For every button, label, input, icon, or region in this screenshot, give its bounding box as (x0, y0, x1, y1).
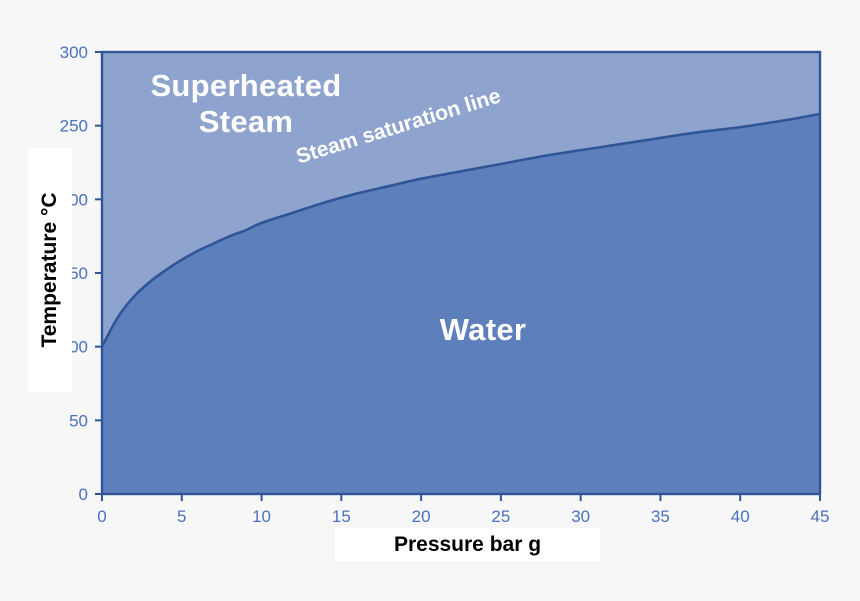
x-axis-tick-label: 40 (731, 507, 750, 526)
x-axis-tick-label: 30 (571, 507, 590, 526)
y-axis-tick-label: 300 (60, 43, 88, 62)
x-axis-tick-label: 35 (651, 507, 670, 526)
plot-regions (102, 52, 820, 494)
x-axis-tick-label: 25 (491, 507, 510, 526)
x-axis-title: Pressure bar g (335, 528, 600, 561)
x-axis-tick-label: 15 (332, 507, 351, 526)
x-axis-tick-label: 0 (97, 507, 106, 526)
x-axis-tick-label: 5 (177, 507, 186, 526)
x-axis-title-text: Pressure bar g (394, 533, 541, 557)
y-axis-tick-label: 50 (69, 411, 88, 430)
x-axis-tick-label: 10 (252, 507, 271, 526)
y-axis-tick-label: 0 (79, 485, 88, 504)
y-axis-title-text: Temperature °C (38, 192, 62, 347)
y-axis-tick-label: 250 (60, 117, 88, 136)
x-axis-tick-label: 20 (412, 507, 431, 526)
x-axis-tick-label: 45 (811, 507, 830, 526)
y-axis-title: Temperature °C (28, 148, 72, 392)
x-axis-ticks: 051015202530354045 (97, 494, 829, 526)
chart-canvas: 050100150200250300 051015202530354045 (0, 0, 860, 601)
steam-phase-diagram-figure: 050100150200250300 051015202530354045 Te… (0, 0, 860, 601)
